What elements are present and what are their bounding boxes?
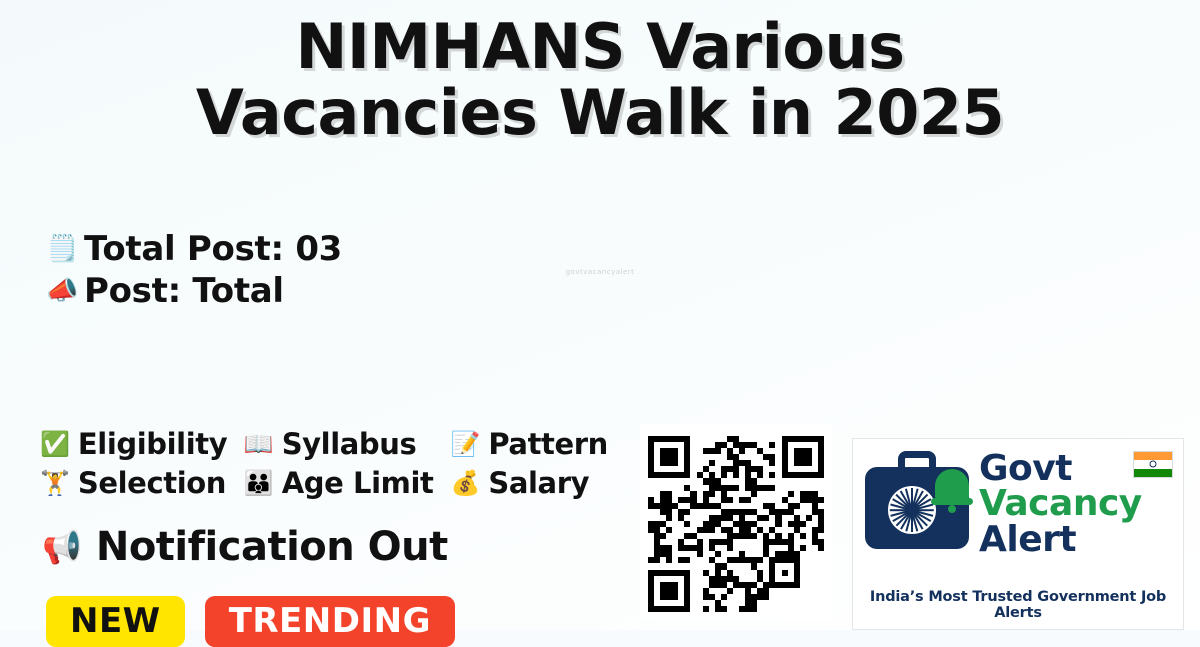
- india-flag-icon: [1133, 451, 1173, 478]
- money-bag-icon: 💰: [450, 471, 480, 495]
- notification-banner: 📢 Notification Out: [42, 524, 448, 570]
- info-row-post: 📣 Post: Total: [46, 270, 342, 312]
- title-line-2: Vacancies Walk in 2025: [0, 80, 1200, 146]
- info-post-text: Post: Total: [84, 271, 284, 311]
- feature-pattern-label: Pattern: [488, 427, 608, 461]
- bell-icon: [931, 465, 973, 511]
- feature-eligibility-label: Eligibility: [78, 427, 227, 461]
- document-icon: 🗒️: [46, 236, 74, 262]
- logo-word-govt: Govt: [979, 451, 1142, 486]
- status-badge-trending: TRENDING: [205, 596, 455, 647]
- poster-canvas: NIMHANS Various Vacancies Walk in 2025 🗒…: [0, 0, 1200, 630]
- logo-inner: Govt Vacancy Alert: [865, 449, 1142, 557]
- check-mark-icon: ✅: [40, 432, 70, 456]
- megaphone-icon: 📣: [46, 278, 74, 304]
- selection-icon: 🏋️: [40, 471, 70, 495]
- feature-age-limit: 👪 Age Limit: [244, 466, 451, 500]
- feature-syllabus-label: Syllabus: [282, 427, 417, 461]
- status-badge-new: NEW: [46, 596, 185, 647]
- feature-selection: 🏋️ Selection: [40, 466, 244, 500]
- logo-word-vacancy: Vacancy: [979, 486, 1142, 521]
- qr-code[interactable]: [640, 424, 832, 620]
- page-title: NIMHANS Various Vacancies Walk in 2025: [0, 14, 1200, 145]
- logo-tagline: India’s Most Trusted Government Job Aler…: [853, 589, 1183, 621]
- info-row-total-post: 🗒️ Total Post: 03: [46, 228, 342, 270]
- logo-wordmark: Govt Vacancy Alert: [979, 449, 1142, 557]
- feature-salary: 💰 Salary: [450, 466, 640, 500]
- qr-code-grid: [648, 436, 824, 612]
- title-line-1: NIMHANS Various: [0, 14, 1200, 80]
- feature-salary-label: Salary: [488, 466, 589, 500]
- watermark-text: govtvacancyalert: [0, 268, 1200, 276]
- feature-age-limit-label: Age Limit: [282, 466, 434, 500]
- people-icon: 👪: [244, 471, 274, 495]
- feature-pattern: 📝 Pattern: [450, 427, 640, 461]
- feature-row-2: 🏋️ Selection 👪 Age Limit 💰 Salary: [40, 463, 640, 502]
- feature-grid: ✅ Eligibility 📖 Syllabus 📝 Pattern 🏋️ Se…: [40, 424, 640, 502]
- feature-selection-label: Selection: [78, 466, 226, 500]
- badge-row: NEW TRENDING: [46, 596, 455, 647]
- feature-syllabus: 📖 Syllabus: [244, 427, 451, 461]
- loudspeaker-icon: 📢: [42, 531, 82, 563]
- exam-paper-icon: 📝: [450, 432, 480, 456]
- info-total-post-text: Total Post: 03: [84, 229, 342, 269]
- brand-logo-card: Govt Vacancy Alert India’s Most Trusted …: [852, 438, 1184, 630]
- notification-text: Notification Out: [96, 524, 448, 570]
- book-icon: 📖: [244, 432, 274, 456]
- feature-eligibility: ✅ Eligibility: [40, 427, 244, 461]
- logo-word-alert: Alert: [979, 522, 1142, 557]
- feature-row-1: ✅ Eligibility 📖 Syllabus 📝 Pattern: [40, 424, 640, 463]
